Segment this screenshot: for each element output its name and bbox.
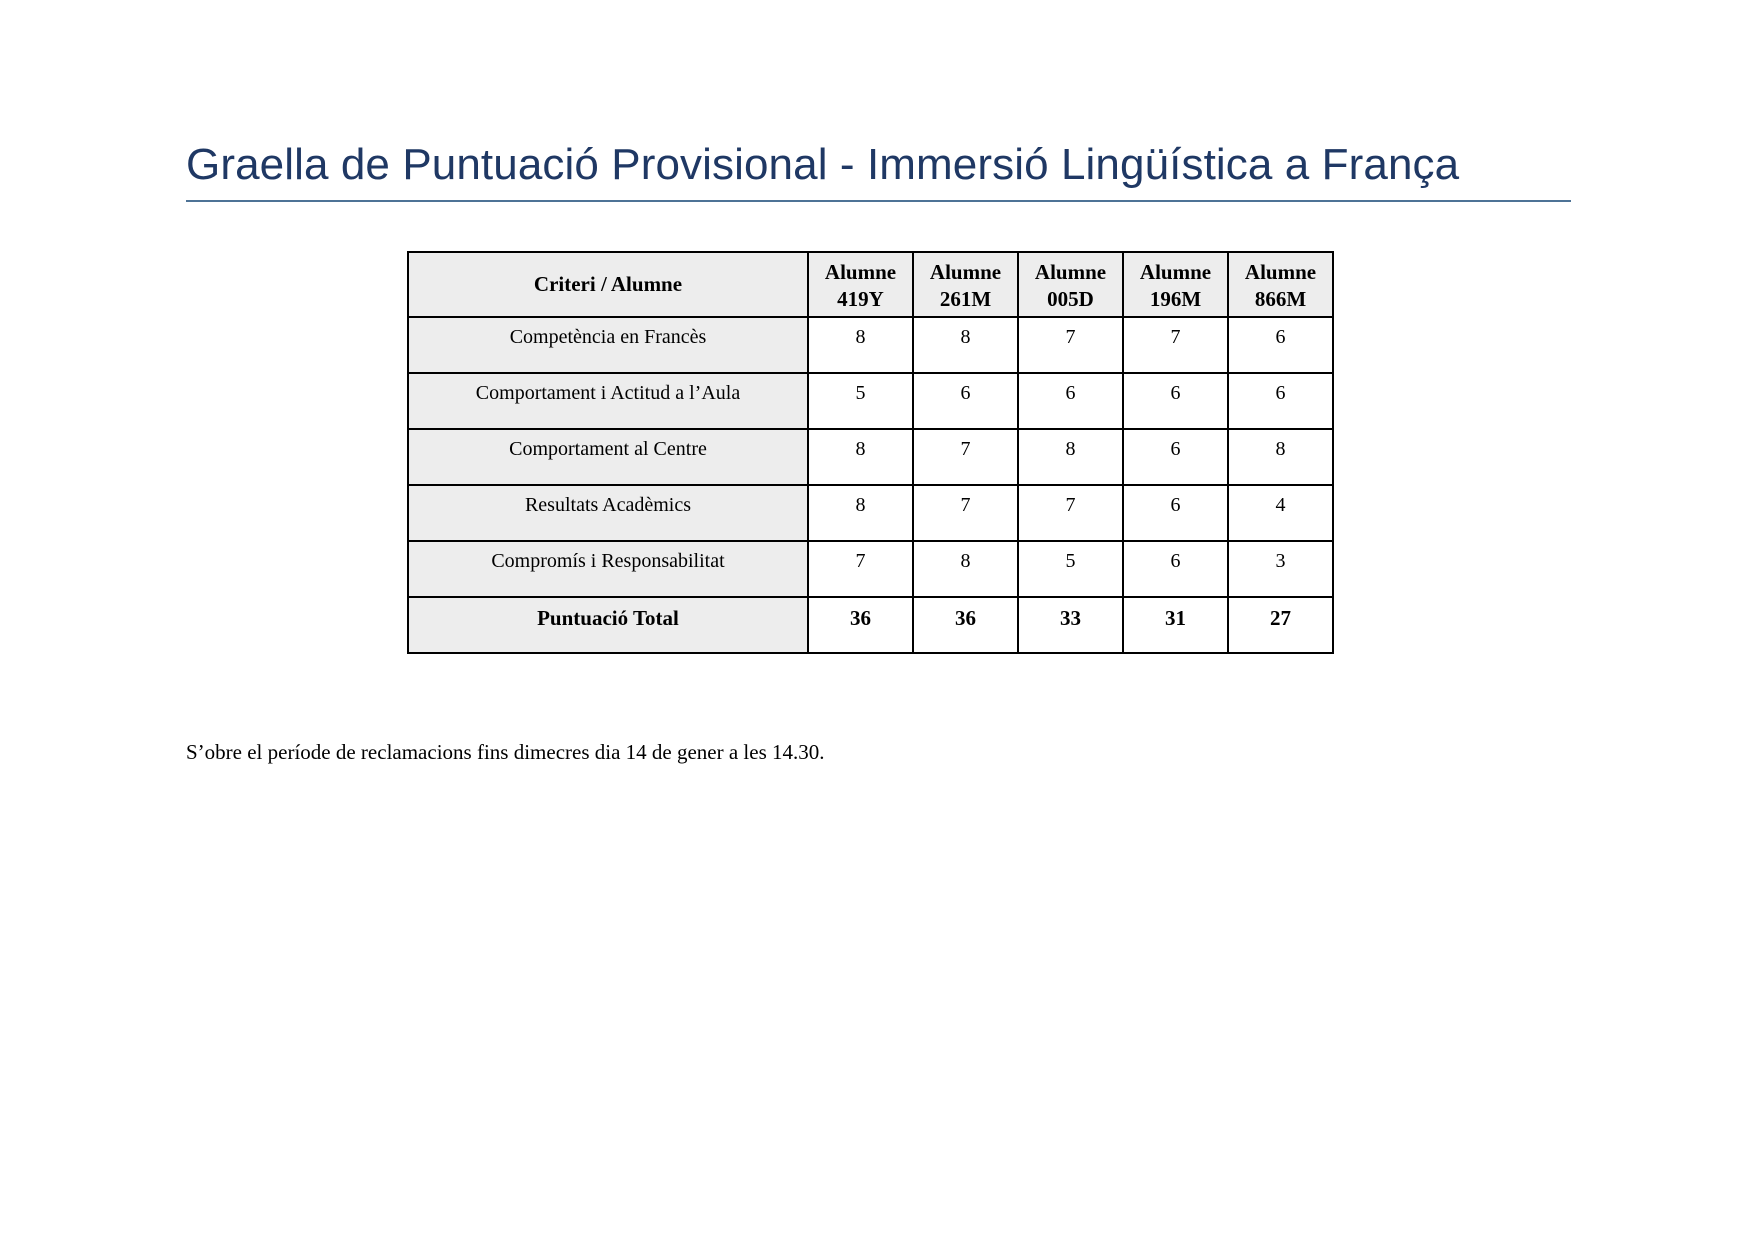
- table-total-row: Puntuació Total 36 36 33 31 27: [408, 597, 1333, 653]
- total-cell: 31: [1123, 597, 1228, 653]
- score-cell: 7: [1018, 317, 1123, 373]
- total-label: Puntuació Total: [408, 597, 808, 653]
- criterion-label: Compromís i Responsabilitat: [408, 541, 808, 597]
- score-cell: 3: [1228, 541, 1333, 597]
- header-column-866M: Alumne 866M: [1228, 252, 1333, 317]
- score-cell: 5: [808, 373, 913, 429]
- score-cell: 8: [808, 429, 913, 485]
- header-prefix-261M: Alumne: [918, 259, 1013, 286]
- header-column-196M: Alumne 196M: [1123, 252, 1228, 317]
- total-cell: 36: [808, 597, 913, 653]
- header-prefix-866M: Alumne: [1233, 259, 1328, 286]
- table-header-row: Criteri / Alumne Alumne 419Y Alumne 261M…: [408, 252, 1333, 317]
- header-column-261M: Alumne 261M: [913, 252, 1018, 317]
- score-cell: 7: [913, 485, 1018, 541]
- score-cell: 4: [1228, 485, 1333, 541]
- header-code-005D: 005D: [1023, 286, 1118, 313]
- table-row: Comportament i Actitud a l’Aula 5 6 6 6 …: [408, 373, 1333, 429]
- header-code-261M: 261M: [918, 286, 1013, 313]
- table-row: Competència en Francès 8 8 7 7 6: [408, 317, 1333, 373]
- score-table-container: Criteri / Alumne Alumne 419Y Alumne 261M…: [407, 251, 1334, 654]
- score-cell: 8: [808, 317, 913, 373]
- header-code-866M: 866M: [1233, 286, 1328, 313]
- header-code-419Y: 419Y: [813, 286, 908, 313]
- total-cell: 33: [1018, 597, 1123, 653]
- page-title: Graella de Puntuació Provisional - Immer…: [186, 138, 1571, 192]
- score-cell: 7: [1123, 317, 1228, 373]
- criterion-label: Comportament i Actitud a l’Aula: [408, 373, 808, 429]
- criterion-label: Comportament al Centre: [408, 429, 808, 485]
- total-cell: 27: [1228, 597, 1333, 653]
- reclamation-period-note: S’obre el període de reclamacions fins d…: [186, 740, 825, 765]
- table-row: Resultats Acadèmics 8 7 7 6 4: [408, 485, 1333, 541]
- header-prefix-196M: Alumne: [1128, 259, 1223, 286]
- criterion-label: Resultats Acadèmics: [408, 485, 808, 541]
- score-cell: 7: [913, 429, 1018, 485]
- score-cell: 8: [913, 541, 1018, 597]
- header-prefix-419Y: Alumne: [813, 259, 908, 286]
- header-column-419Y: Alumne 419Y: [808, 252, 913, 317]
- score-cell: 6: [1123, 485, 1228, 541]
- score-cell: 6: [1123, 373, 1228, 429]
- score-cell: 8: [1228, 429, 1333, 485]
- score-cell: 6: [913, 373, 1018, 429]
- criterion-label: Competència en Francès: [408, 317, 808, 373]
- header-prefix-005D: Alumne: [1023, 259, 1118, 286]
- document-page: Graella de Puntuació Provisional - Immer…: [0, 0, 1755, 1242]
- title-underline-rule: [186, 200, 1571, 202]
- score-cell: 8: [808, 485, 913, 541]
- table-row: Comportament al Centre 8 7 8 6 8: [408, 429, 1333, 485]
- score-cell: 7: [1018, 485, 1123, 541]
- score-cell: 6: [1228, 373, 1333, 429]
- score-cell: 8: [1018, 429, 1123, 485]
- title-block: Graella de Puntuació Provisional - Immer…: [186, 138, 1571, 202]
- score-cell: 6: [1018, 373, 1123, 429]
- table-row: Compromís i Responsabilitat 7 8 5 6 3: [408, 541, 1333, 597]
- score-table: Criteri / Alumne Alumne 419Y Alumne 261M…: [407, 251, 1334, 654]
- header-code-196M: 196M: [1128, 286, 1223, 313]
- score-cell: 6: [1123, 541, 1228, 597]
- score-cell: 8: [913, 317, 1018, 373]
- score-cell: 7: [808, 541, 913, 597]
- score-cell: 5: [1018, 541, 1123, 597]
- header-criteri-alumne: Criteri / Alumne: [408, 252, 808, 317]
- total-cell: 36: [913, 597, 1018, 653]
- score-cell: 6: [1123, 429, 1228, 485]
- header-column-005D: Alumne 005D: [1018, 252, 1123, 317]
- score-cell: 6: [1228, 317, 1333, 373]
